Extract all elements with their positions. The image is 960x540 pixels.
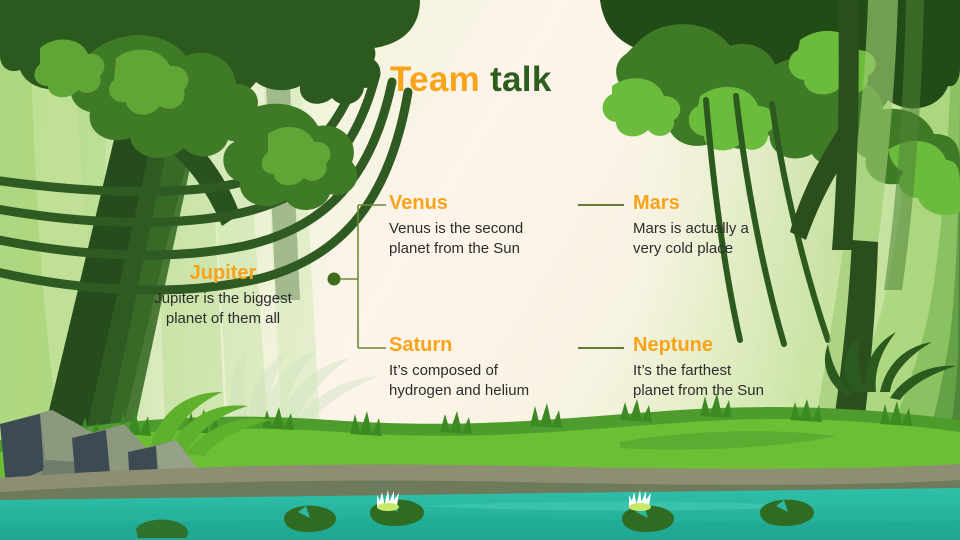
slide-content: Team talk Jupiter Jupiter is the biggest… [0,0,960,540]
node-neptune-body-line2: planet from the Sun [633,381,764,401]
node-mars-heading: Mars [633,192,749,214]
node-jupiter-body-line1: Jupiter is the biggest [108,289,338,309]
node-neptune-body-line1: It’s the farthest [633,361,764,381]
node-venus-body-line1: Venus is the second [389,219,523,239]
node-saturn[interactable]: Saturn It’s composed of hydrogen and hel… [389,334,529,401]
node-jupiter-body-line2: planet of them all [108,309,338,329]
page-title: Team talk [390,60,552,100]
presentation-slide: Team talk Jupiter Jupiter is the biggest… [0,0,960,540]
node-jupiter[interactable]: Jupiter Jupiter is the biggest planet of… [108,262,338,329]
node-saturn-body-line1: It’s composed of [389,361,529,381]
node-neptune-heading: Neptune [633,334,764,356]
node-mars-body-line2: very cold place [633,239,749,259]
node-venus[interactable]: Venus Venus is the second planet from th… [389,192,523,259]
title-part-two: talk [490,60,552,99]
node-neptune[interactable]: Neptune It’s the farthest planet from th… [633,334,764,401]
title-part-one: Team [390,60,480,99]
node-saturn-heading: Saturn [389,334,529,356]
node-mars-body-line1: Mars is actually a [633,219,749,239]
node-venus-body-line2: planet from the Sun [389,239,523,259]
node-saturn-body-line2: hydrogen and helium [389,381,529,401]
node-jupiter-heading: Jupiter [108,262,338,284]
node-mars[interactable]: Mars Mars is actually a very cold place [633,192,749,259]
node-venus-heading: Venus [389,192,523,214]
